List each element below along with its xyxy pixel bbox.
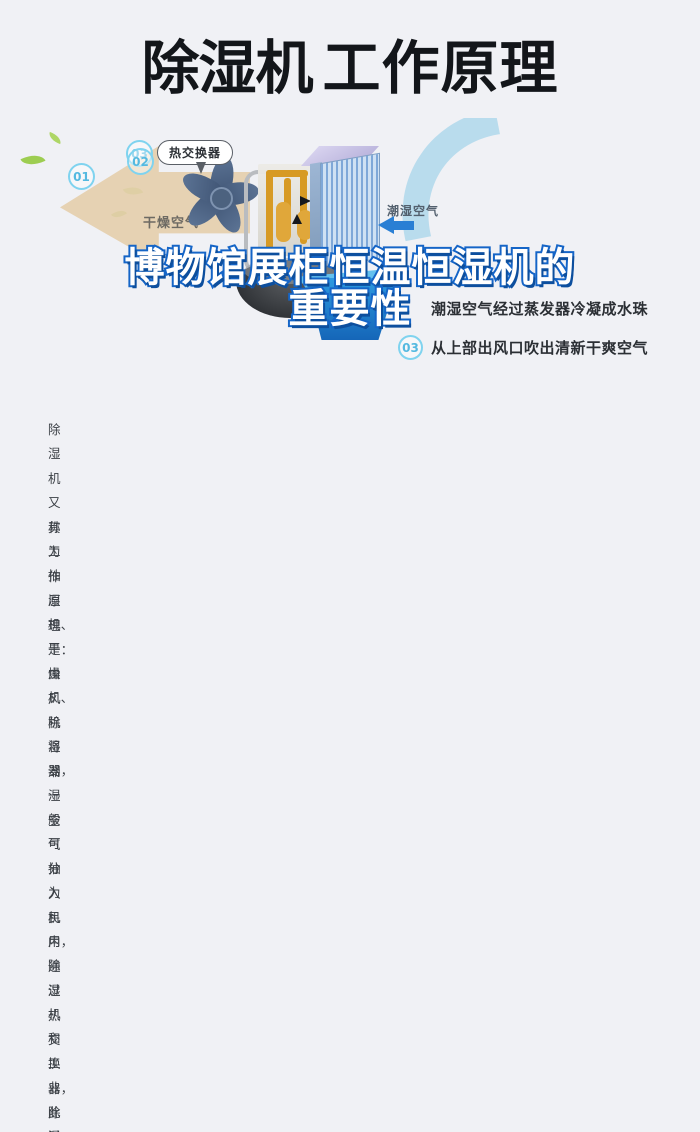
- page-title-part1: 除湿机: [141, 34, 312, 102]
- legend-list: 02 潮湿空气经过蒸发器冷凝成水珠 03 从上部出风口吹出清新干爽空气: [0, 296, 700, 374]
- callout-tail-icon: [196, 162, 206, 174]
- legend-badge: 03: [398, 335, 423, 360]
- humid-air-arrow-head-icon: [378, 216, 394, 234]
- humid-air-label: 潮湿空气: [387, 202, 439, 219]
- page-title-part2: 工作原理: [323, 34, 559, 102]
- humid-air-badge: 01: [68, 163, 95, 190]
- humid-air-arrow-bar: [392, 221, 414, 230]
- heat-exchanger-badge: 02: [127, 148, 154, 175]
- body-paragraph-1: 除湿机又称为抽湿机、干燥机、除湿器，一般可分为民用除湿机和工业除湿机两大类，属于…: [48, 418, 55, 502]
- body-copy: 除湿机又称为抽湿机、干燥机、除湿器，一般可分为民用除湿机和工业除湿机两大类，属于…: [48, 418, 656, 566]
- body-paragraph-2: 其工作原理是：由风机将潮湿空气抽入机内，通过热交换器，此时空气中的水分子冷凝成水…: [48, 516, 55, 566]
- leaf-icon: [47, 132, 63, 144]
- legend-text: 潮湿空气经过蒸发器冷凝成水珠: [431, 298, 648, 319]
- refrigerant-cylinder: [276, 202, 291, 242]
- legend-row: 02 潮湿空气经过蒸发器冷凝成水珠: [0, 296, 700, 321]
- page-title: 除湿机工作原理: [141, 39, 558, 97]
- pipe-segment: [266, 170, 273, 254]
- evaporator-fins: [320, 153, 380, 270]
- heat-exchanger-callout: 热交换器: [157, 140, 233, 165]
- header: 除湿机工作原理: [0, 22, 700, 114]
- legend-text: 从上部出风口吹出清新干爽空气: [431, 337, 648, 358]
- flow-arrow-up-icon: [292, 214, 302, 224]
- infographic-page: 除湿机工作原理 03 干燥空气 热交换器: [0, 0, 700, 566]
- leaf-icon: [20, 150, 45, 170]
- legend-row: 03 从上部出风口吹出清新干爽空气: [0, 335, 700, 360]
